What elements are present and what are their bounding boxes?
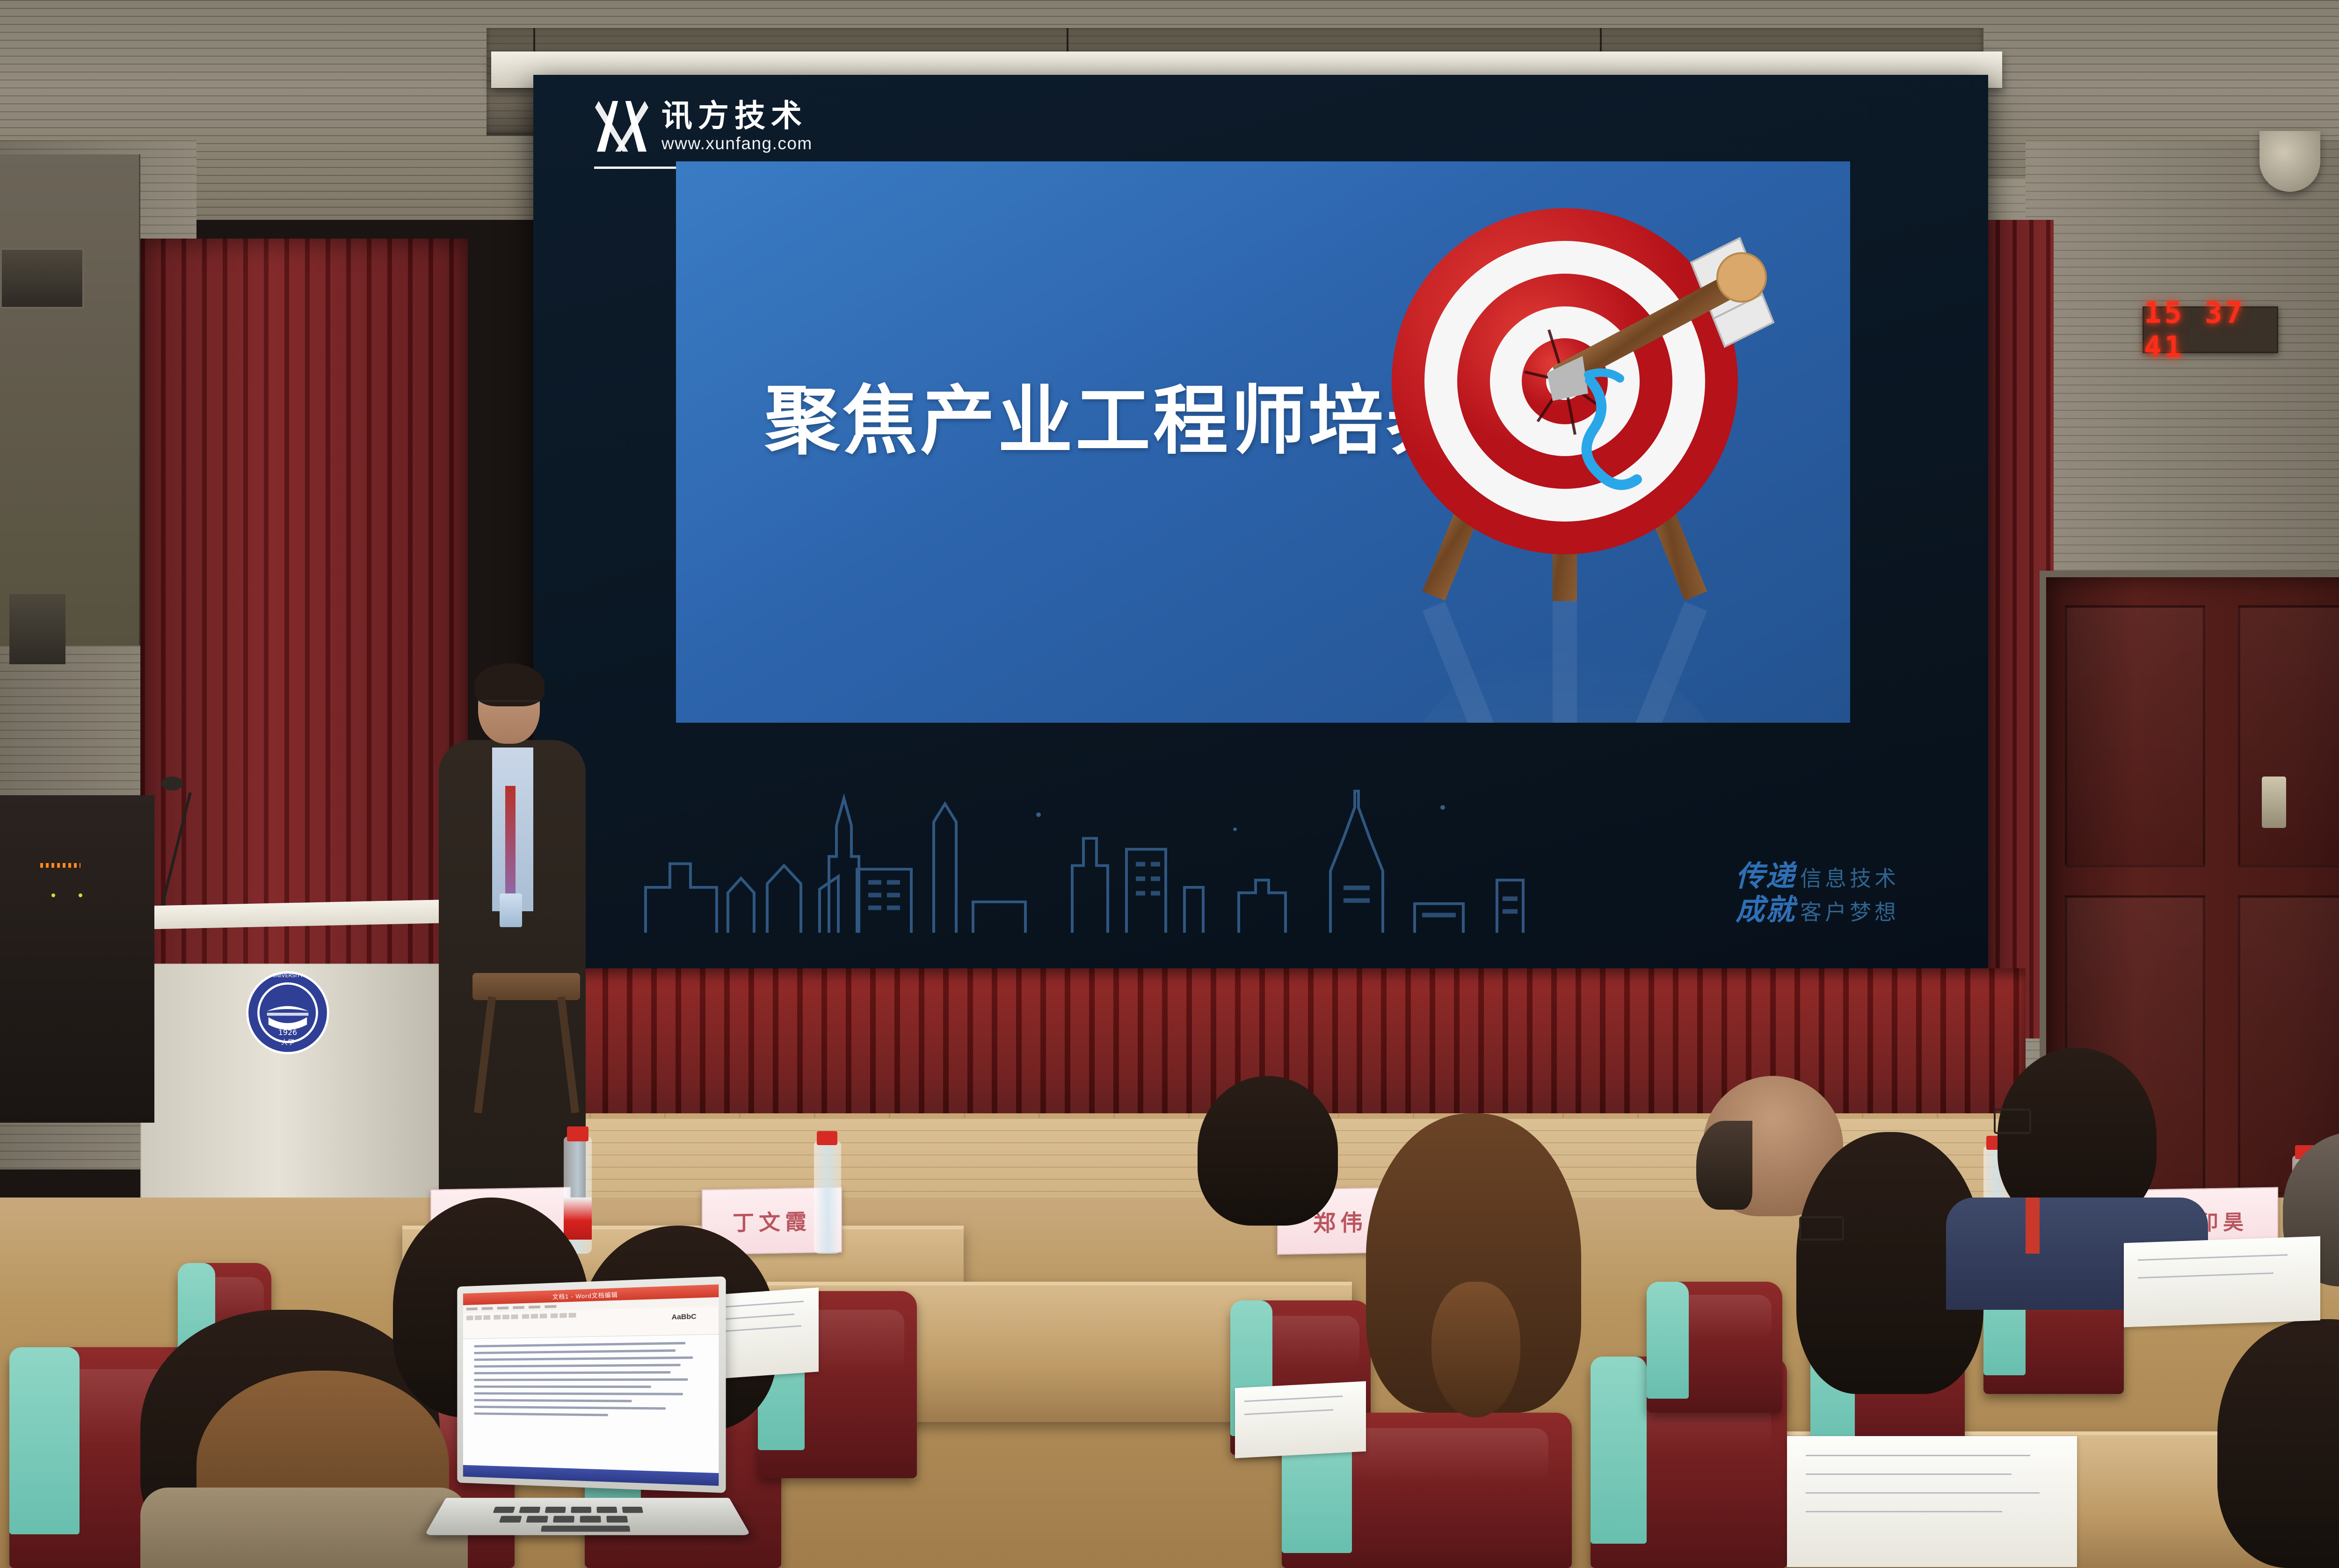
brand-website: www.xunfang.com bbox=[661, 134, 813, 153]
water-bottle bbox=[814, 1141, 841, 1254]
equipment-indicator-led bbox=[51, 893, 55, 897]
wall-left-panel bbox=[0, 154, 140, 646]
led-clock: 15 37 41 bbox=[2143, 306, 2278, 353]
projection-screen: 讯方技术 www.xunfang.com 聚焦产业工程师培养 bbox=[533, 75, 1988, 978]
glasses-icon bbox=[480, 700, 538, 712]
slogan-line: 传递信息技术 bbox=[1736, 859, 1899, 893]
stool-leg bbox=[474, 996, 496, 1113]
svg-text:大学: 大学 bbox=[281, 1038, 295, 1046]
presenter-badge bbox=[500, 893, 522, 927]
door-handle-icon[interactable] bbox=[2262, 777, 2286, 828]
slogan-strong: 传递 bbox=[1736, 859, 1795, 893]
slogan-strong: 成就 bbox=[1736, 893, 1795, 927]
city-skyline-outline-icon bbox=[636, 778, 1619, 933]
slide-content-panel: 聚焦产业工程师培养 bbox=[676, 161, 1850, 723]
document-body[interactable] bbox=[463, 1335, 719, 1430]
door-panel bbox=[2238, 605, 2339, 867]
menu-item[interactable] bbox=[497, 1307, 508, 1310]
menu-item[interactable] bbox=[513, 1306, 524, 1309]
laptop-screen[interactable]: 文档1 - Word文档编辑 AaBbC bbox=[463, 1285, 719, 1486]
menu-item[interactable] bbox=[545, 1305, 556, 1308]
menu-item[interactable] bbox=[466, 1307, 478, 1310]
door-panel bbox=[2065, 605, 2205, 867]
laptop-lid: 文档1 - Word文档编辑 AaBbC bbox=[457, 1276, 726, 1493]
menu-item[interactable] bbox=[482, 1307, 493, 1310]
bottle-cap bbox=[567, 1126, 588, 1141]
av-equipment-rack bbox=[0, 795, 154, 1123]
microphone-head-icon bbox=[161, 777, 183, 791]
audience-member bbox=[2217, 1319, 2339, 1568]
audience-head bbox=[1198, 1076, 1338, 1226]
audience-shoulders bbox=[140, 1488, 468, 1568]
brand-text: 讯方技术 www.xunfang.com bbox=[661, 100, 813, 153]
presenter bbox=[435, 669, 589, 1198]
handout-paper bbox=[1235, 1381, 1366, 1459]
xunfang-x-mark-icon bbox=[594, 98, 649, 153]
audience-member bbox=[1366, 1113, 1581, 1413]
lecture-hall-scene: 15 37 41 讯方技术 www.xunfang.com bbox=[0, 0, 2339, 1568]
seat-accent-panel bbox=[1647, 1282, 1689, 1399]
wooden-stool bbox=[472, 973, 580, 1113]
brand-logo: 讯方技术 www.xunfang.com bbox=[594, 98, 813, 153]
wall-vent-icon bbox=[0, 248, 84, 309]
slogan-light: 信息技术 bbox=[1800, 866, 1899, 891]
laptop-keyboard[interactable] bbox=[424, 1498, 750, 1535]
archery-target-with-arrow-icon bbox=[1354, 180, 1775, 723]
audience-ponytail bbox=[1431, 1282, 1520, 1417]
audience-member bbox=[1198, 1076, 1338, 1226]
wall-vent-icon bbox=[9, 594, 65, 664]
presentation-slide: 讯方技术 www.xunfang.com 聚焦产业工程师培养 bbox=[533, 75, 1988, 978]
style-gallery-sample[interactable]: AaBbC bbox=[672, 1313, 697, 1321]
brand-slogan: 传递信息技术 成就客户梦想 bbox=[1736, 859, 1899, 926]
glasses-icon bbox=[1799, 1216, 1844, 1241]
equipment-led-strip bbox=[40, 863, 80, 868]
audience-head bbox=[2217, 1319, 2339, 1568]
stool-leg bbox=[557, 996, 579, 1113]
svg-text:1926: 1926 bbox=[278, 1028, 297, 1037]
slogan-light: 客户梦想 bbox=[1800, 900, 1899, 925]
presenter-lanyard bbox=[505, 786, 516, 903]
audience-hair bbox=[1696, 1121, 1752, 1210]
audience-laptop[interactable]: 文档1 - Word文档编辑 AaBbC bbox=[449, 1282, 748, 1562]
seat-accent-panel bbox=[1591, 1357, 1647, 1544]
menu-item[interactable] bbox=[529, 1306, 540, 1309]
slogan-line: 成就客户梦想 bbox=[1736, 893, 1899, 926]
glasses-icon bbox=[1994, 1109, 2031, 1134]
bottle-cap bbox=[817, 1131, 837, 1145]
handout-paper bbox=[1787, 1436, 2077, 1567]
clock-time: 15 37 41 bbox=[2144, 296, 2277, 364]
handout-paper bbox=[2124, 1236, 2320, 1328]
ceiling-speaker-icon bbox=[2259, 131, 2320, 192]
equipment-indicator-led bbox=[79, 893, 82, 897]
audience-lanyard bbox=[2026, 1198, 2040, 1254]
university-seal-icon: 1926 大学 UNIVERSITY bbox=[243, 968, 332, 1057]
os-taskbar[interactable] bbox=[463, 1465, 719, 1486]
seat-accent-panel bbox=[9, 1347, 80, 1534]
svg-text:UNIVERSITY: UNIVERSITY bbox=[272, 973, 303, 979]
brand-company-name: 讯方技术 bbox=[661, 100, 813, 132]
